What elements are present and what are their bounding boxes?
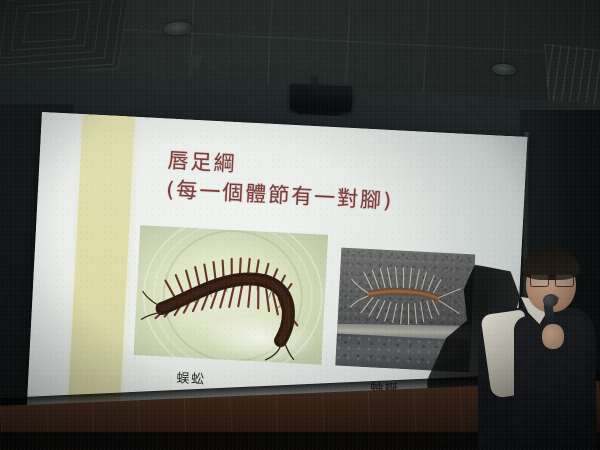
presenter-speaking xyxy=(470,246,600,450)
photo-centipede-in-petri-dish xyxy=(134,225,328,365)
eyeglasses-icon xyxy=(530,274,574,285)
eyeglass-bridge xyxy=(547,278,555,279)
eyeglass-lens-left xyxy=(530,274,549,287)
ceiling-mounted-projector xyxy=(289,84,352,113)
photo-scene: 唇足綱 (每一個體節有一對腳) xyxy=(0,0,600,450)
presenter-hand xyxy=(542,324,564,349)
eyeglass-lens-right xyxy=(555,274,574,287)
photo-caption-left: 蜈蚣 xyxy=(176,367,206,387)
slide-title-block: 唇足綱 (每一個體節有一對腳) xyxy=(165,147,395,217)
centipede-illustration xyxy=(134,225,328,365)
